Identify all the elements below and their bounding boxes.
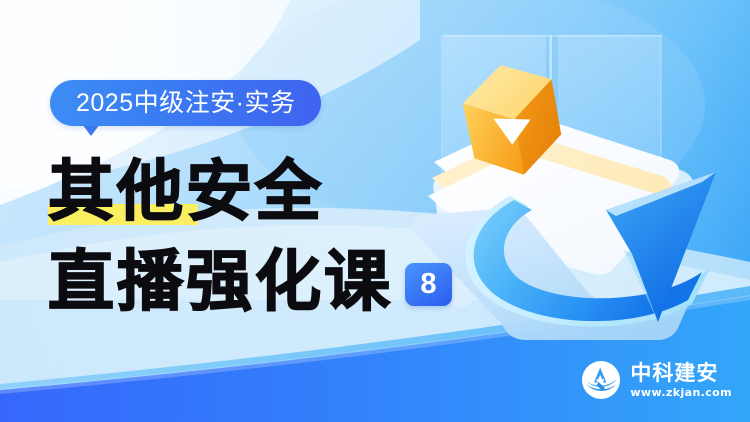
headline-line-2: 直播强化课 8 [48, 240, 452, 322]
episode-number-badge: 8 [405, 263, 452, 306]
mountain-swoosh-logo-icon [581, 360, 621, 400]
episode-number-label: 8 [420, 270, 436, 299]
course-illustration [410, 10, 750, 340]
headline-block: 其他安全 直播强化课 8 [48, 150, 452, 322]
headline-line-1: 其他安全 [48, 150, 452, 232]
headline-line-1-text: 其他安全 [48, 158, 324, 224]
course-tag-badge: 2025中级注安·实务 [50, 80, 321, 126]
course-tag-label: 2025中级注安·实务 [76, 91, 295, 116]
brand-logo-block: 中科建安 www.zkjan.com [581, 360, 732, 400]
headline-line-2-text: 直播强化课 [48, 248, 393, 314]
brand-url: www.zkjan.com [630, 387, 732, 398]
brand-text: 中科建安 www.zkjan.com [630, 363, 732, 398]
course-banner: 2025中级注安·实务 其他安全 直播强化课 8 [0, 0, 750, 422]
brand-name: 中科建安 [630, 363, 718, 384]
